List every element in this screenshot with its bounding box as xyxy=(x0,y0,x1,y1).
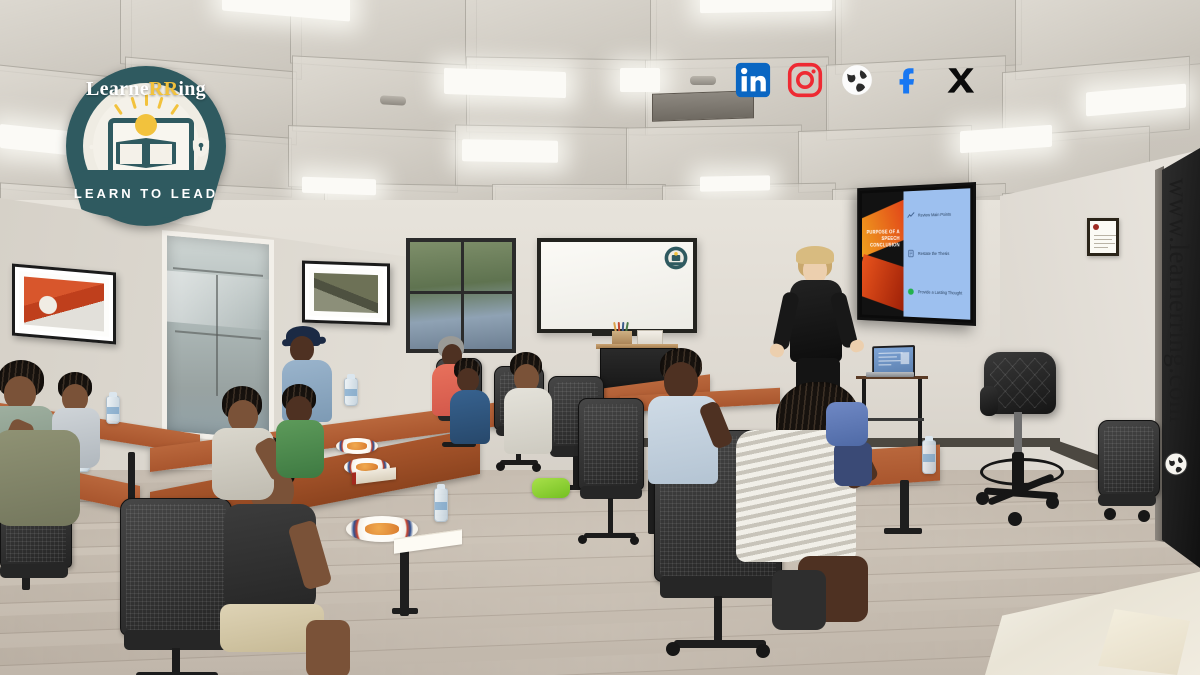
water-bottle xyxy=(344,378,358,406)
chart-icon xyxy=(907,211,915,220)
snack-plate xyxy=(336,438,378,454)
water-bottle xyxy=(922,440,936,474)
smoke-detector xyxy=(380,95,406,105)
wall-mounted-tv: PURPOSE OF A SPEECH CONCLUSION Review Ma… xyxy=(857,182,976,326)
ceiling-light xyxy=(700,175,770,191)
whiteboard-logo-icon xyxy=(664,246,688,270)
social-icons-bar xyxy=(733,56,981,104)
water-bottle xyxy=(106,396,120,424)
marker-caddy xyxy=(612,331,632,345)
ceiling-light xyxy=(444,68,566,98)
aircraft-photo xyxy=(302,260,390,325)
slide-bullet-text: Restate the Thesis xyxy=(918,252,949,256)
instagram-icon[interactable] xyxy=(785,60,825,100)
framed-certificate xyxy=(1087,218,1119,256)
exterior-window xyxy=(406,238,516,353)
presentation-slide: PURPOSE OF A SPEECH CONCLUSION Review Ma… xyxy=(862,188,970,319)
ceiling-light xyxy=(700,0,832,13)
classroom-photo: PURPOSE OF A SPEECH CONCLUSION Review Ma… xyxy=(0,0,1200,675)
ceiling-light xyxy=(620,68,660,92)
table-leg xyxy=(392,608,418,614)
foreground-cloth-fold xyxy=(1098,609,1190,675)
slide-bullet-text: Review Main Points xyxy=(918,213,951,218)
globe-icon xyxy=(1164,452,1188,476)
desk-shelf xyxy=(860,418,924,421)
circle-icon xyxy=(907,288,915,297)
slide-bullet: Restate the Thesis xyxy=(907,234,967,274)
slide-bullet: Provide a Lasting Thought xyxy=(907,273,967,314)
laptop-base xyxy=(866,372,914,377)
slide-bullet: Review Main Points xyxy=(907,194,967,235)
x-icon[interactable] xyxy=(941,60,981,100)
sneakers xyxy=(532,478,570,498)
brand-logo: LearneRRing LEARN TO LEAD xyxy=(66,66,226,226)
ceiling-light xyxy=(462,139,558,163)
smoke-detector xyxy=(690,76,716,85)
slide-title: PURPOSE OF A SPEECH CONCLUSION xyxy=(867,229,900,250)
website-url: www.learnerring.com xyxy=(1163,178,1194,423)
slide-bullets-panel: Review Main Points Restate the Thesis Pr… xyxy=(903,188,970,319)
slide-bullet-text: Provide a Lasting Thought xyxy=(918,290,962,295)
water-bottle xyxy=(434,488,448,522)
globe-icon[interactable] xyxy=(837,60,877,100)
network-node-icon xyxy=(88,136,106,158)
table-leg xyxy=(884,528,922,534)
logo-tagline: LEARN TO LEAD xyxy=(72,186,220,201)
facebook-icon[interactable] xyxy=(889,60,929,100)
desk-leg xyxy=(918,379,922,447)
sun-icon xyxy=(135,114,157,136)
slide-title-panel: PURPOSE OF A SPEECH CONCLUSION xyxy=(862,191,903,316)
table-leg xyxy=(900,480,909,532)
whiteboard xyxy=(537,238,697,333)
linkedin-icon[interactable] xyxy=(733,60,773,100)
logo-tagline-banner: LEARN TO LEAD xyxy=(72,170,220,218)
logo-wordmark: LearneRRing xyxy=(66,78,226,101)
document-icon xyxy=(907,250,915,259)
ceiling-light xyxy=(302,177,376,196)
shield-icon xyxy=(192,136,210,158)
helicopter-photo xyxy=(12,263,116,344)
